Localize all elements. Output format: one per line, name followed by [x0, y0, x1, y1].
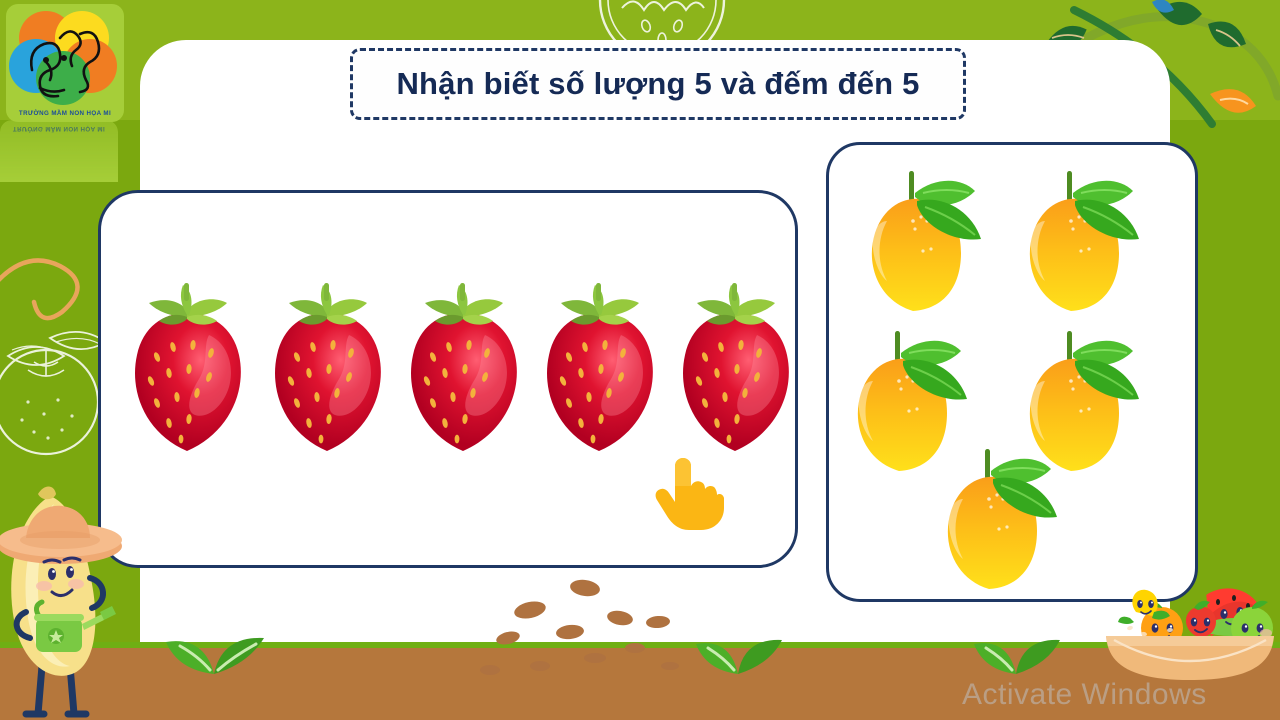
- mango-1[interactable]: [857, 167, 1007, 319]
- strawberry-5[interactable]: [671, 283, 799, 458]
- banana-gardener-character: [0, 478, 126, 720]
- mango-5[interactable]: [933, 445, 1083, 597]
- logo-reflection: TRƯỜNG MẦM NON HỌA MI: [0, 120, 118, 182]
- straw-hat: [0, 506, 122, 564]
- slide-canvas: TRƯỜNG MẦM NON HỌA MI TRƯỜNG MẦM NON HỌA…: [0, 0, 1280, 720]
- windows-activation-watermark: Activate Windows: [962, 678, 1207, 712]
- strawberry-1[interactable]: [123, 283, 251, 458]
- sprout-leaves-right: [968, 632, 1064, 676]
- pointing-hand-cursor-icon[interactable]: [645, 452, 729, 536]
- page-title: Nhận biết số lượng 5 và đếm đến 5: [396, 66, 919, 102]
- logo-artwork: [6, 4, 124, 122]
- logo-text: TRƯỜNG MẦM NON HỌA MI: [6, 110, 124, 117]
- mango-group-panel[interactable]: [826, 142, 1198, 602]
- logo-reflection-text: TRƯỜNG MẦM NON HỌA MI: [0, 125, 118, 132]
- sprout-leaves-left: [160, 630, 270, 676]
- logo-card: TRƯỜNG MẦM NON HỌA MI: [6, 4, 124, 122]
- slide-title-box: Nhận biết số lượng 5 và đếm đến 5: [350, 48, 966, 120]
- fruit-basket-decoration: [1100, 578, 1280, 684]
- sprout-leaves-center: [690, 632, 786, 676]
- strawberry-4[interactable]: [535, 283, 663, 458]
- strawberry-3[interactable]: [399, 283, 527, 458]
- mango-2[interactable]: [1015, 167, 1165, 319]
- strawberry-2[interactable]: [263, 283, 391, 458]
- strawberry-calyx: [149, 283, 227, 325]
